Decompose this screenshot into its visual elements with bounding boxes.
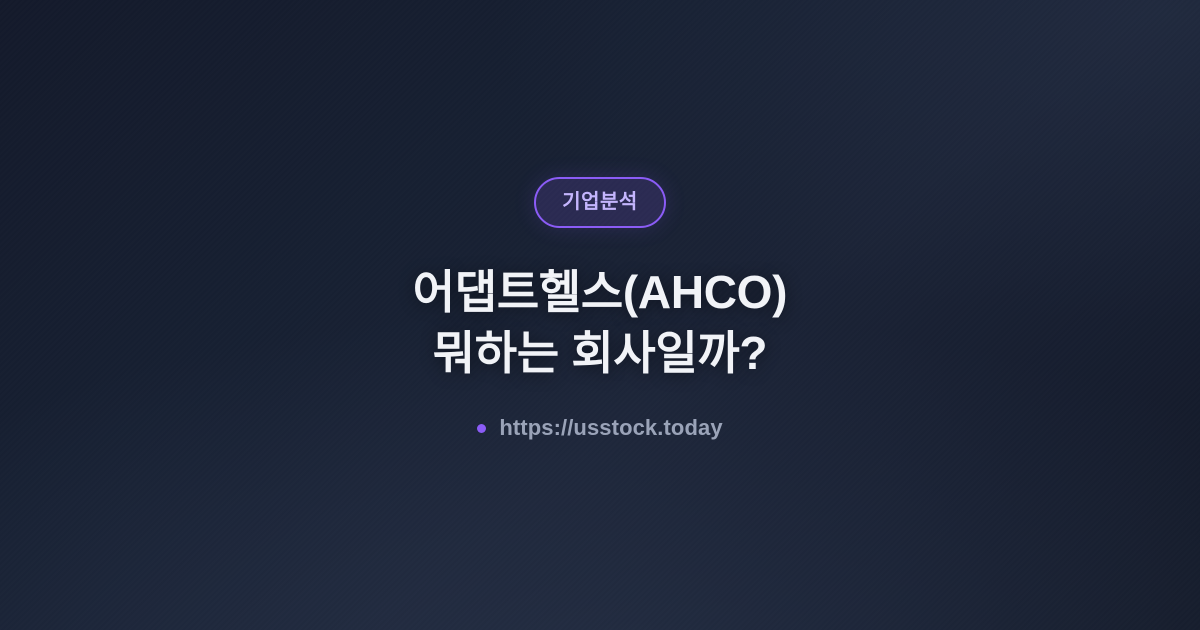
category-badge: 기업분석: [534, 177, 666, 228]
title-line-1: 어댑트헬스(AHCO): [413, 262, 787, 323]
site-url-row: https://usstock.today: [477, 417, 722, 439]
card-content: 기업분석 어댑트헬스(AHCO) 뭐하는 회사일까? https://ussto…: [0, 0, 1200, 630]
site-url-text: https://usstock.today: [499, 417, 722, 439]
title-line-2: 뭐하는 회사일까?: [413, 323, 787, 384]
page-title: 어댑트헬스(AHCO) 뭐하는 회사일까?: [413, 262, 787, 383]
bullet-dot-icon: [477, 424, 486, 433]
og-card: 기업분석 어댑트헬스(AHCO) 뭐하는 회사일까? https://ussto…: [0, 0, 1200, 630]
